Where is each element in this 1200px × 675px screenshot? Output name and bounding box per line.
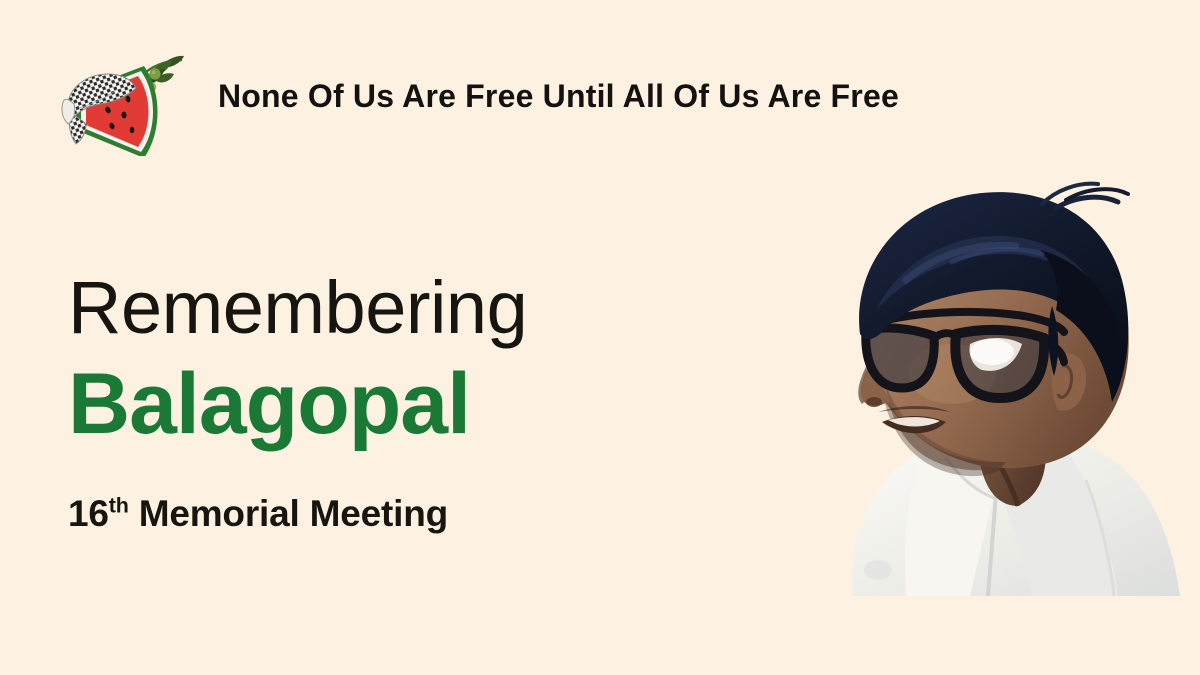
edition-suffix: th [109, 493, 129, 517]
memorial-poster: None Of Us Are Free Until All Of Us Are … [0, 0, 1200, 675]
edition-number: 16 [68, 493, 109, 534]
meeting-label: Memorial Meeting [139, 493, 448, 534]
honoree-name: Balagopal [68, 361, 708, 449]
header-slogan: None Of Us Are Free Until All Of Us Are … [218, 80, 899, 112]
meeting-subtitle: 16th Memorial Meeting [68, 495, 708, 532]
watermelon-keffiyeh-olive-logo [56, 36, 186, 156]
header: None Of Us Are Free Until All Of Us Are … [56, 36, 1176, 156]
remembering-label: Remembering [68, 272, 708, 343]
memorial-text-block: Remembering Balagopal 16th Memorial Meet… [68, 272, 708, 532]
honoree-portrait [756, 150, 1200, 596]
